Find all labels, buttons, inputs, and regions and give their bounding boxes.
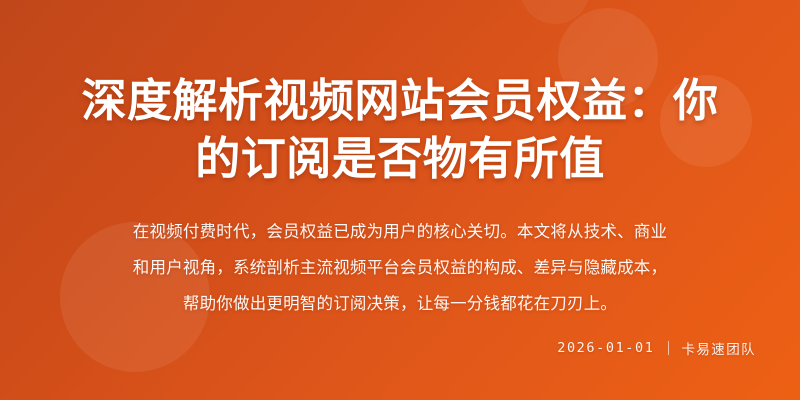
author-name: 卡易速团队	[682, 338, 757, 358]
page-subtitle: 在视频付费时代，会员权益已成为用户的核心关切。本文将从技术、商业 和用户视角，系…	[44, 188, 756, 322]
page-title: 深度解析视频网站会员权益：你 的订阅是否物有所值	[44, 0, 756, 188]
meta-divider	[668, 341, 669, 355]
publish-date: 2026-01-01	[557, 340, 654, 356]
banner-content: 深度解析视频网站会员权益：你 的订阅是否物有所值 在视频付费时代，会员权益已成为…	[0, 0, 800, 400]
banner-meta: 2026-01-01 卡易速团队	[44, 338, 756, 400]
article-cover-banner: 深度解析视频网站会员权益：你 的订阅是否物有所值 在视频付费时代，会员权益已成为…	[0, 0, 800, 400]
